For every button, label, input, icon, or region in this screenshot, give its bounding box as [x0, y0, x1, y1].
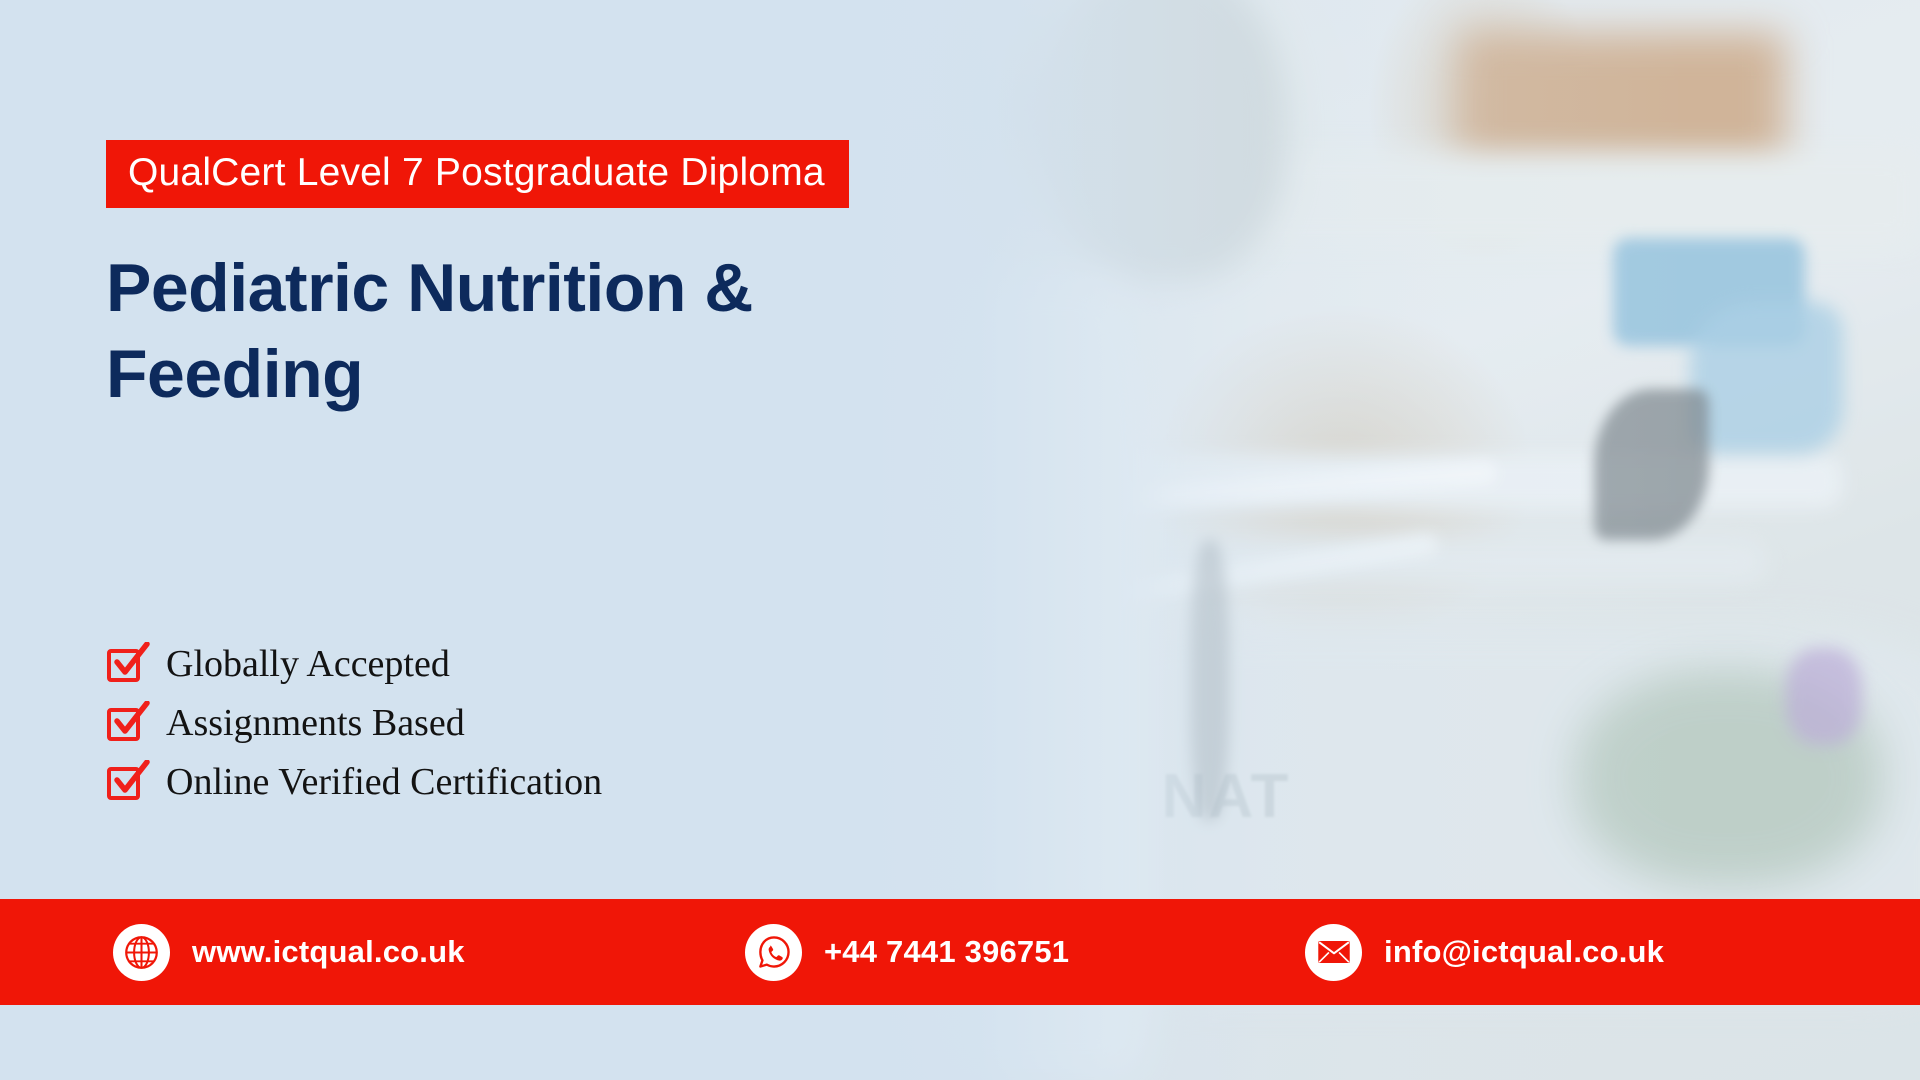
list-item-label: Globally Accepted — [166, 645, 450, 683]
list-item: Online Verified Certification — [106, 763, 602, 801]
email-address-text: info@ictqual.co.uk — [1384, 934, 1664, 970]
contact-footer-bar: www.ictqual.co.uk +44 7441 396751 info@i… — [0, 899, 1920, 1005]
list-item-label: Online Verified Certification — [166, 763, 602, 801]
list-item: Globally Accepted — [106, 645, 602, 683]
feature-list: Globally Accepted Assignments Based — [106, 645, 602, 801]
envelope-icon — [1305, 924, 1362, 981]
qualification-level-badge: QualCert Level 7 Postgraduate Diploma — [106, 140, 849, 208]
contact-email[interactable]: info@ictqual.co.uk — [1305, 924, 1664, 981]
list-item-label: Assignments Based — [166, 704, 465, 742]
page-title: Pediatric Nutrition & Feeding — [106, 245, 926, 418]
checkbox-checked-icon — [106, 705, 142, 741]
website-url-text: www.ictqual.co.uk — [192, 934, 465, 970]
course-promo-banner: NAT QualCert Level 7 Postgraduate Diplom… — [0, 0, 1920, 1080]
checkbox-checked-icon — [106, 764, 142, 800]
list-item: Assignments Based — [106, 704, 602, 742]
phone-number-text: +44 7441 396751 — [824, 934, 1069, 970]
globe-icon — [113, 924, 170, 981]
phone-icon — [745, 924, 802, 981]
contact-phone[interactable]: +44 7441 396751 — [745, 924, 1069, 981]
contact-website[interactable]: www.ictqual.co.uk — [113, 924, 465, 981]
checkbox-checked-icon — [106, 646, 142, 682]
